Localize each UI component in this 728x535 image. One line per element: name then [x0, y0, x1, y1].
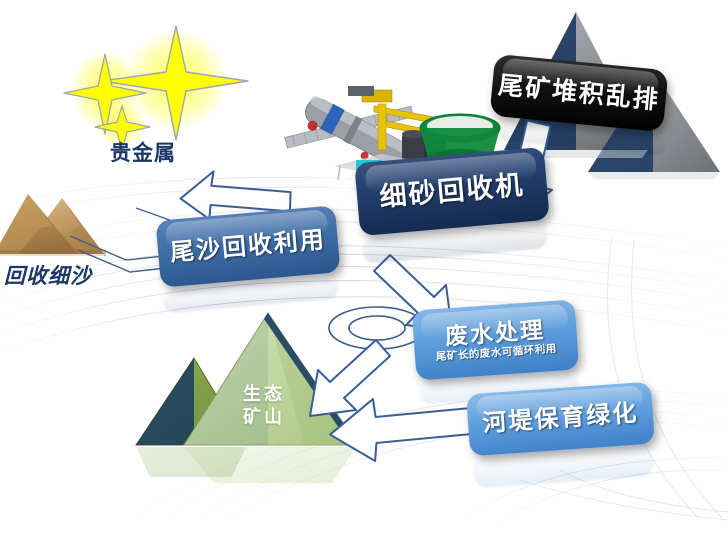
label-recovered-sand: 回收细沙 — [4, 260, 92, 290]
label-eco-mine: 生态 矿山 — [243, 383, 285, 428]
node-label-machine: 细砂回收机 — [379, 171, 526, 212]
label-eco-mine-line2: 矿山 — [243, 406, 285, 429]
node-label-reuse: 尾沙回收利用 — [169, 227, 327, 266]
arrow-to-bottom[interactable] — [318, 388, 488, 473]
diagram-canvas: 尾矿堆积乱排 细砂回收机 尾沙回收利用 废水处理 尾矿长的废水可循环利用 河堤保… — [0, 0, 728, 535]
label-eco-mine-line1: 生态 — [243, 383, 285, 406]
node-label-river: 河堤保育绿化 — [482, 401, 639, 437]
node-box-waste-water[interactable]: 废水处理 尾矿长的废水可循环利用 — [412, 299, 579, 380]
node-box-reuse[interactable]: 尾沙回收利用 — [155, 205, 340, 287]
node-label-dump: 尾矿堆积乱排 — [497, 72, 661, 114]
label-precious-metal: 贵金属 — [110, 137, 176, 167]
node-box-river[interactable]: 河堤保育绿化 — [466, 382, 655, 457]
